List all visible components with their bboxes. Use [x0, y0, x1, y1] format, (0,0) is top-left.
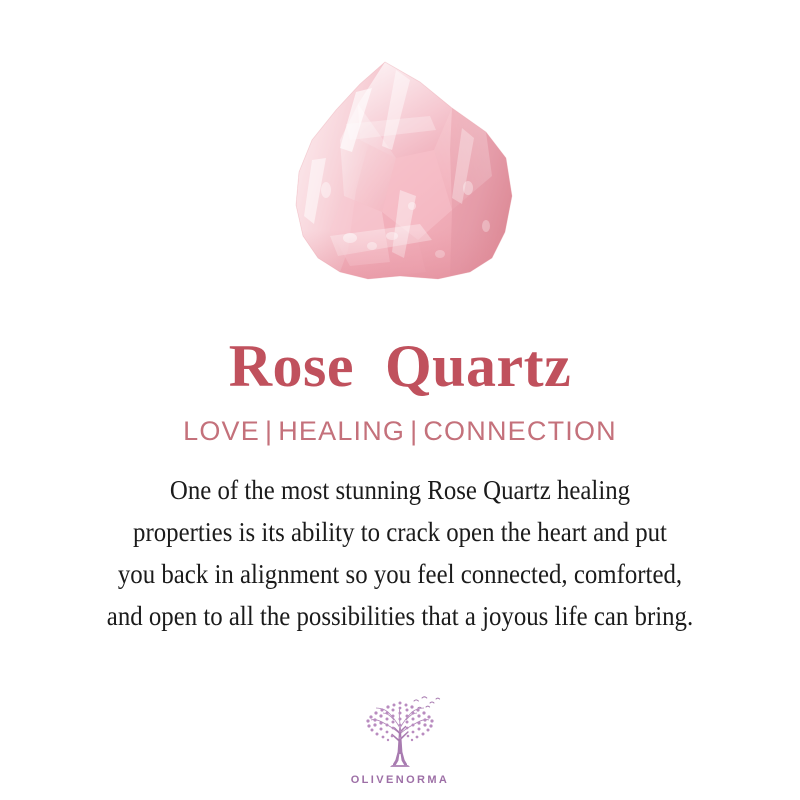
- description-line: properties is its ability to crack open …: [50, 511, 749, 553]
- description-line: you back in alignment so you feel connec…: [50, 553, 749, 595]
- keyword-connection: CONNECTION: [423, 416, 617, 446]
- description-line: and open to all the possibilities that a…: [50, 595, 749, 637]
- description-paragraph: One of the most stunning Rose Quartz hea…: [50, 469, 749, 637]
- keyword-healing: HEALING: [278, 416, 405, 446]
- tree-of-life-icon: [354, 694, 446, 772]
- rose-quartz-info-card: Rose Quartz LOVE|HEALING|CONNECTION One …: [0, 0, 800, 800]
- brand-wordmark: OLIVENORMA: [351, 774, 450, 786]
- rose-quartz-crystal-image: [0, 0, 800, 300]
- hero-image-container: [0, 0, 800, 300]
- keyword-tagline: LOVE|HEALING|CONNECTION: [183, 418, 617, 445]
- page-title: Rose Quartz: [229, 336, 572, 396]
- description-line: One of the most stunning Rose Quartz hea…: [50, 469, 749, 511]
- keyword-separator-2: |: [405, 416, 423, 446]
- keyword-separator-1: |: [260, 416, 278, 446]
- brand-logo: OLIVENORMA: [0, 694, 800, 786]
- keyword-love: LOVE: [183, 416, 260, 446]
